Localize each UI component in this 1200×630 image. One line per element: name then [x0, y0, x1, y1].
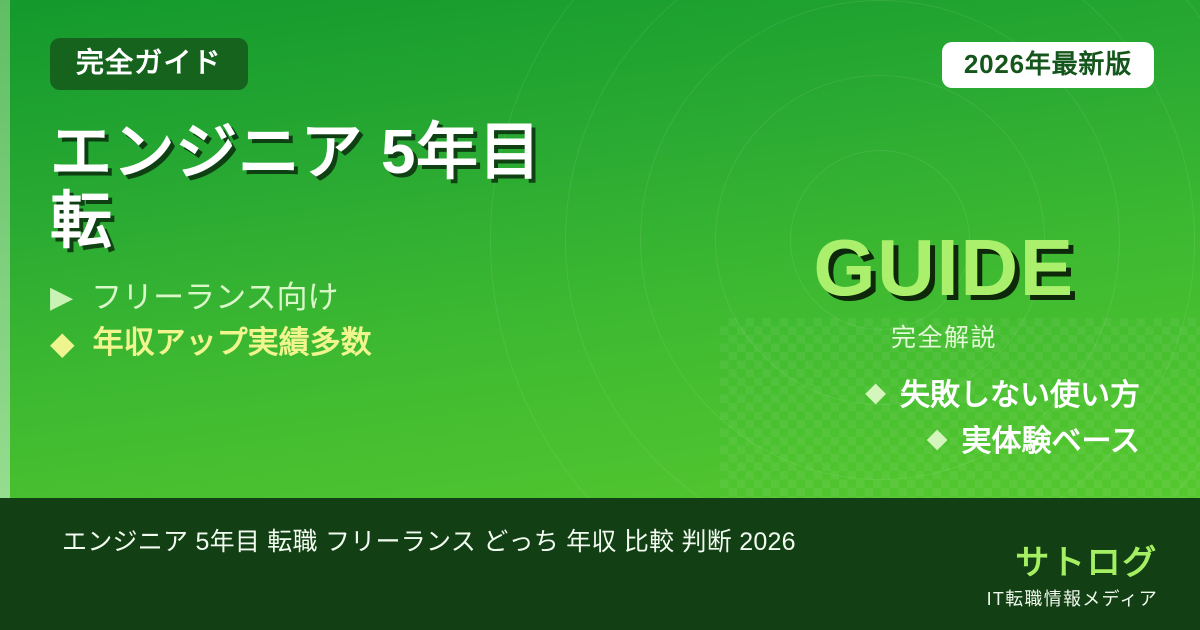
left-accent-bar: [0, 0, 10, 498]
brand-tagline: IT転職情報メディア: [987, 585, 1158, 611]
guide-bullet-item-2: ◆ 実体験ベース: [744, 416, 1140, 460]
brand-block: サトログ IT転職情報メディア: [987, 546, 1158, 611]
footer-bar: エンジニア 5年目 転職 フリーランス どっち 年収 比較 判断 2026 サト…: [0, 498, 1200, 630]
triangle-bullet-icon: ▶: [50, 283, 73, 313]
guide-bullet-item-1: ◆ 失敗しない使い方: [744, 370, 1140, 414]
diamond-bullet-icon: ◆: [865, 379, 886, 406]
hero-bullet-item-1: ▶ フリーランス向け: [50, 279, 750, 318]
year-badge: 2026年最新版: [942, 42, 1154, 88]
hero-right-column: GUIDE 完全解説 ◆ 失敗しない使い方 ◆ 実体験ベース: [744, 228, 1144, 462]
guide-wordmark: GUIDE: [744, 228, 1144, 308]
year-badge-label: 2026年最新版: [964, 51, 1132, 77]
hero-section: 2026年最新版 完全ガイド エンジニア 5年目 転 ▶ フリーランス向け ◆ …: [0, 0, 1200, 498]
hero-bullet-list: ▶ フリーランス向け ◆ 年収アップ実績多数: [50, 279, 750, 363]
guide-bullet-label-1: 失敗しない使い方: [900, 370, 1140, 414]
brand-name: サトログ: [987, 546, 1158, 582]
footer-keywords: エンジニア 5年目 転職 フリーランス どっち 年収 比較 判断 2026: [62, 522, 796, 558]
page-title-line-2: 転: [50, 187, 710, 256]
hero-bullet-label-1: フリーランス向け: [91, 279, 338, 318]
hero-bullet-label-2: 年収アップ実績多数: [93, 324, 372, 363]
guide-bullet-list: ◆ 失敗しない使い方 ◆ 実体験ベース: [744, 370, 1144, 460]
page-title: エンジニア 5年目 転: [50, 118, 710, 257]
page-title-line-1: エンジニア 5年目: [50, 118, 710, 187]
guide-bullet-label-2: 実体験ベース: [962, 416, 1141, 460]
diamond-bullet-icon: ◆: [50, 327, 75, 359]
hero-bullet-item-2: ◆ 年収アップ実績多数: [50, 324, 750, 363]
guide-badge: 完全ガイド: [50, 38, 248, 90]
og-image-card: 2026年最新版 完全ガイド エンジニア 5年目 転 ▶ フリーランス向け ◆ …: [0, 0, 1200, 630]
hero-left-column: 完全ガイド エンジニア 5年目 転 ▶ フリーランス向け ◆ 年収アップ実績多数: [50, 38, 750, 368]
diamond-bullet-icon: ◆: [927, 425, 948, 452]
guide-subtitle: 完全解説: [744, 318, 1144, 354]
